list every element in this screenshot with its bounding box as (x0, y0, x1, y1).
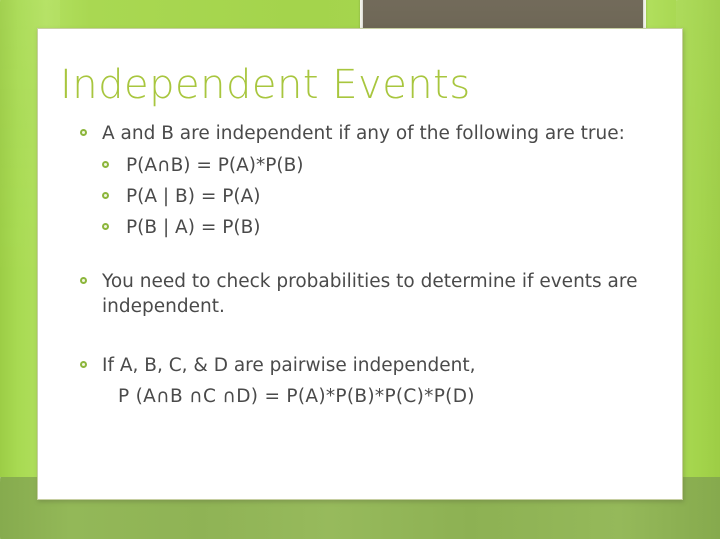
list-item: A and B are independent if any of the fo… (38, 121, 684, 146)
bullet-ring-icon (102, 161, 109, 168)
spacer (38, 323, 684, 353)
list-item: P(A | B) = P(A) (96, 181, 684, 212)
sub-bullet-text: P(A∩B) = P(A)*P(B) (126, 155, 304, 176)
bullet-list: A and B are independent if any of the fo… (38, 121, 684, 412)
list-item: P(B | A) = P(B) (96, 212, 684, 243)
list-item: P(A∩B) = P(A)*P(B) (96, 150, 684, 181)
bullet-ring-icon (102, 223, 109, 230)
list-item: You need to check probabilities to deter… (38, 269, 684, 319)
bullet-ring-icon (80, 361, 87, 368)
sub-bullet-text: P(A | B) = P(A) (126, 186, 260, 207)
slide-body: A and B are independent if any of the fo… (38, 121, 684, 412)
bullet-ring-icon (80, 277, 87, 284)
bullet-ring-icon (102, 192, 109, 199)
slide-canvas: Independent Events A and B are independe… (0, 0, 720, 539)
formula-text: P (A∩B ∩C ∩D) = P(A)*P(B)*P(C)*P(D) (118, 382, 684, 412)
spacer (38, 243, 684, 269)
sub-bullet-text: P(B | A) = P(B) (126, 217, 260, 238)
bullet-text: A and B are independent if any of the fo… (102, 123, 625, 144)
slide-title: Independent Events (60, 62, 471, 108)
slide-content-card: Independent Events A and B are independe… (37, 28, 683, 500)
list-item: If A, B, C, & D are pairwise independent… (38, 353, 684, 378)
bullet-text: If A, B, C, & D are pairwise independent… (102, 355, 475, 376)
bullet-text: You need to check probabilities to deter… (102, 271, 637, 317)
sub-bullet-list: P(A∩B) = P(A)*P(B) P(A | B) = P(A) P(B |… (96, 150, 684, 243)
bullet-ring-icon (80, 129, 87, 136)
